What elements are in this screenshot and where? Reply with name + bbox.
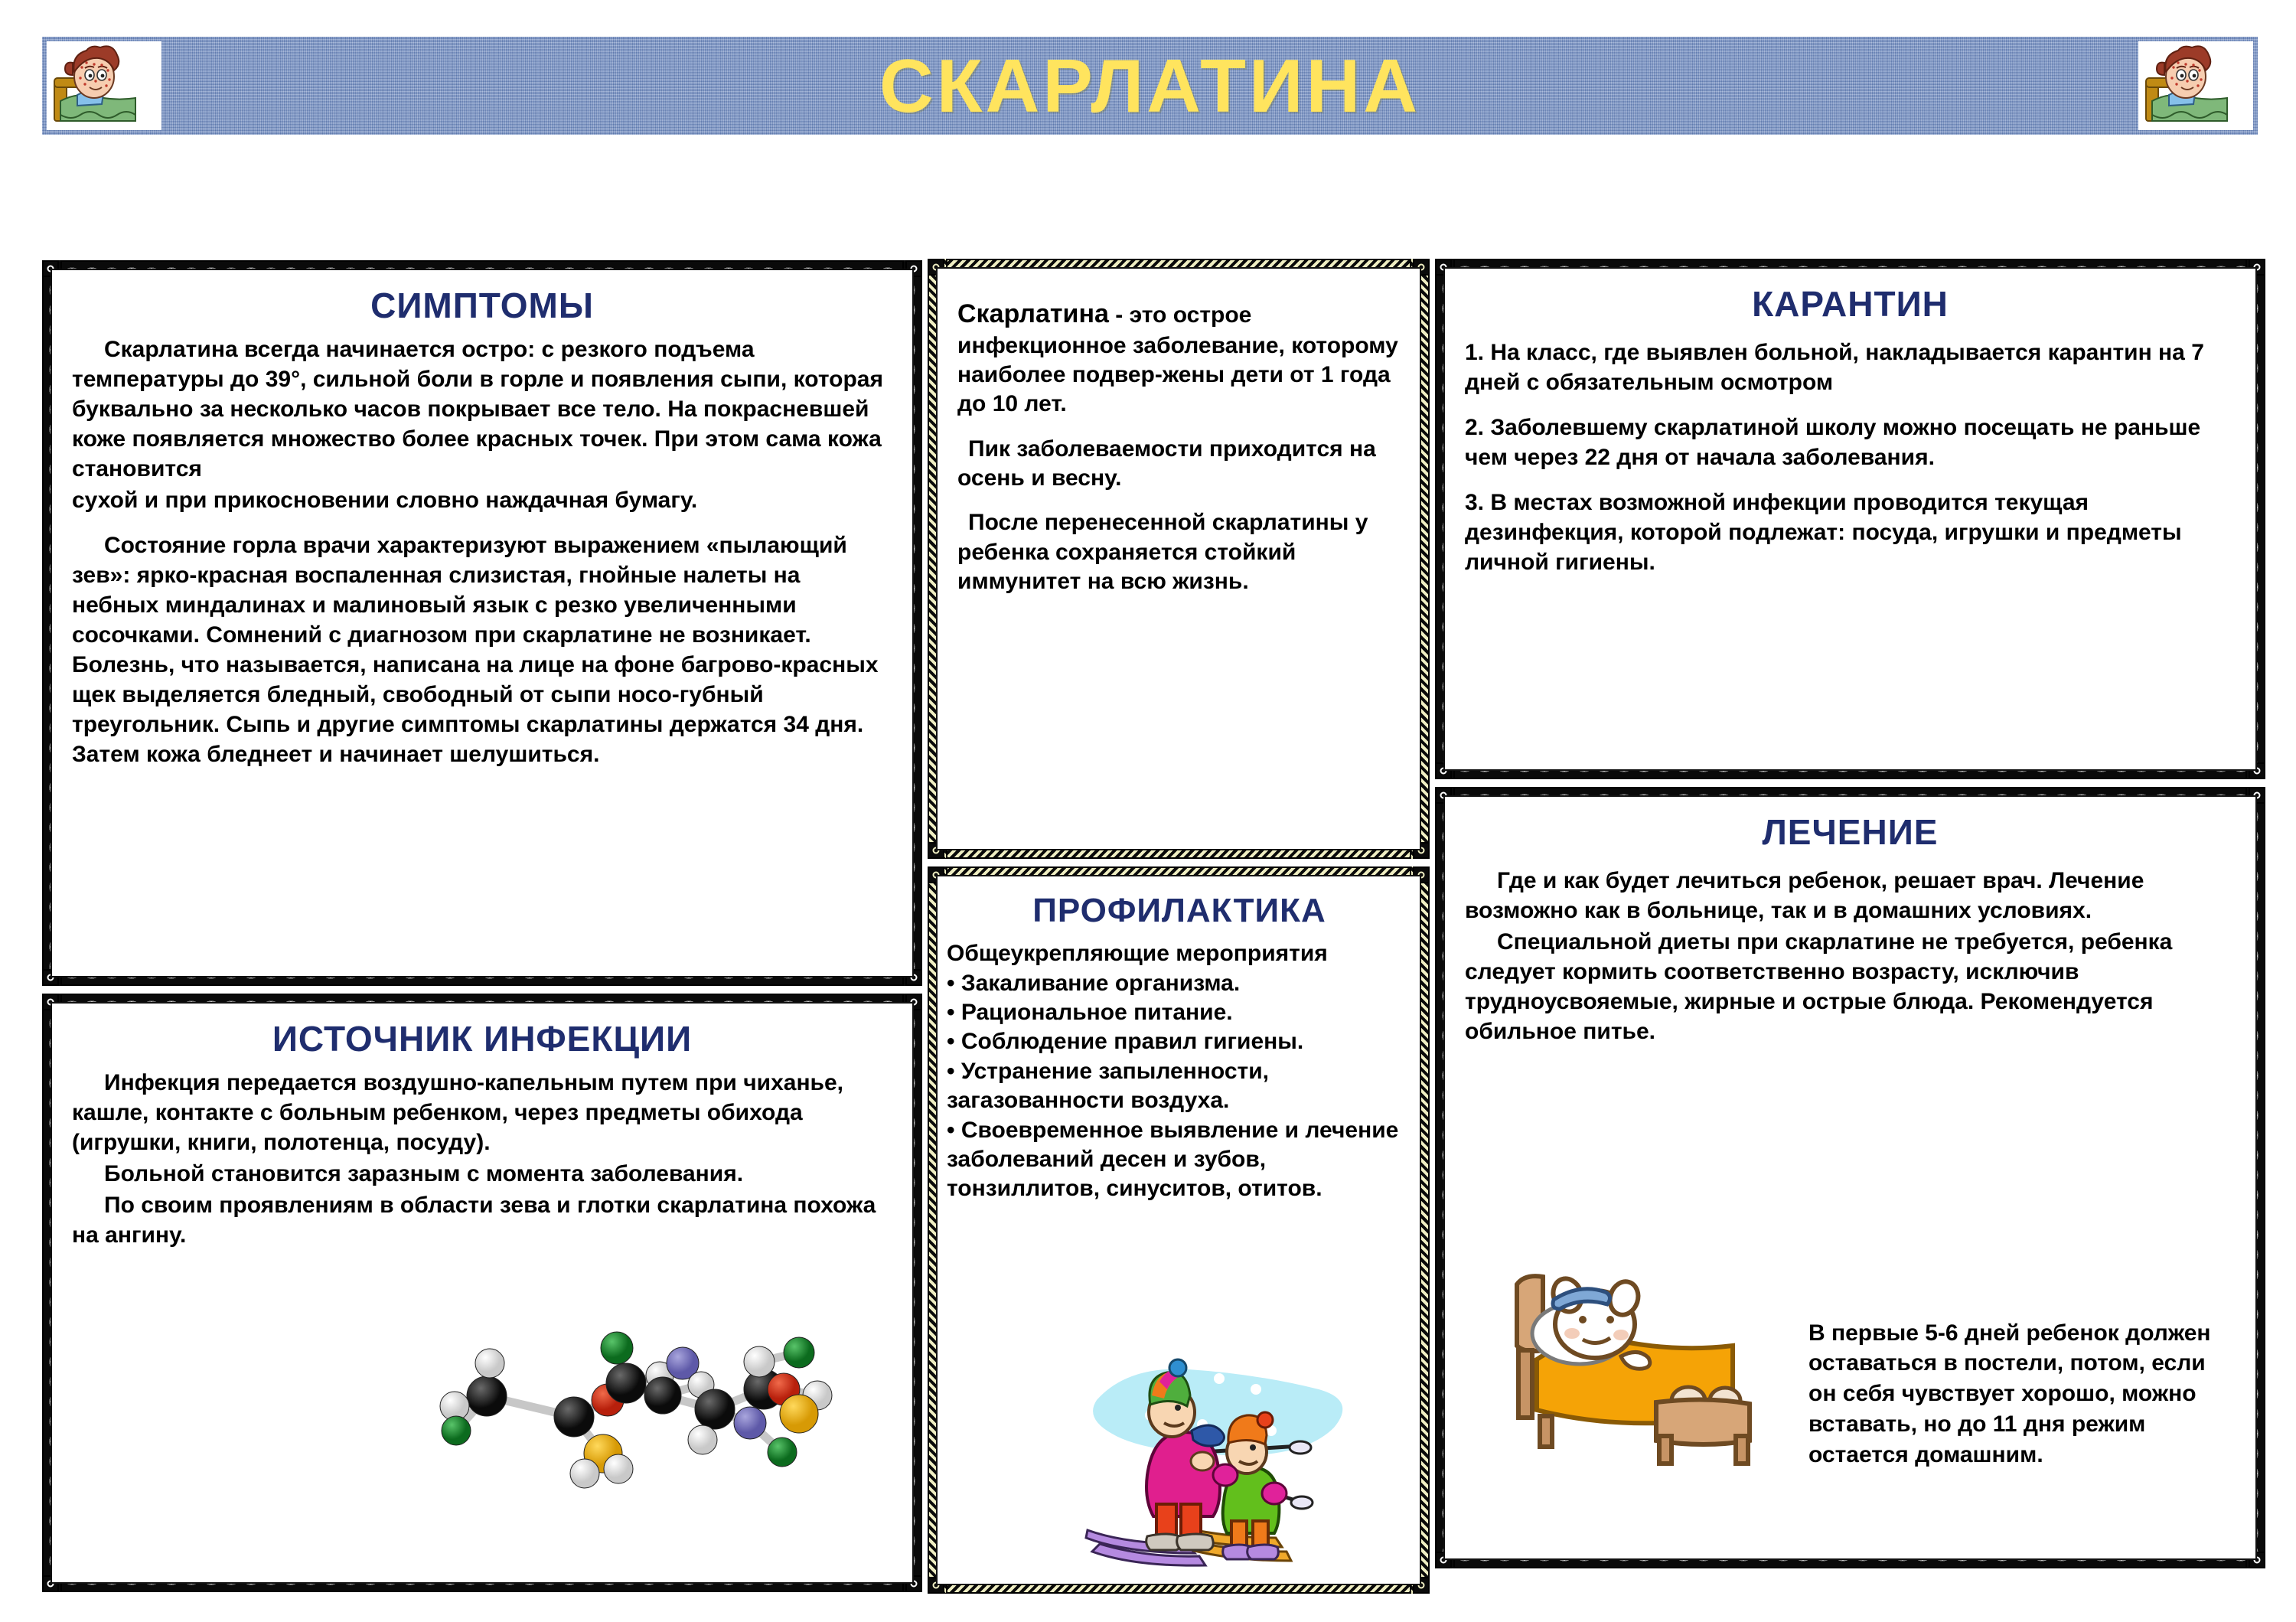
prevention-item: • Устранение запыленности, загазованност… [947,1057,1412,1116]
prevention-item: • Своевременное выявление и лечение забо… [947,1116,1412,1204]
symptoms-panel: СИМПТОМЫ Скарлатина всегда начинается ос… [42,260,922,986]
children-skiing-icon [1074,1339,1349,1576]
source-paragraph-3: По своим проявлениям в области зева и гл… [72,1190,892,1250]
prevention-item: • Закаливание организма. [947,969,1412,998]
intro-paragraph-2: После перенесенной скарлатины у ребенка … [957,508,1400,596]
prevention-title: ПРОФИЛАКТИКА [947,893,1412,928]
left-column: СИМПТОМЫ Скарлатина всегда начинается ос… [42,260,922,1600]
prevention-item: • Рациональное питание. [947,998,1412,1027]
symptoms-title: СИМПТОМЫ [72,287,892,324]
child-in-bed-icon [1506,1245,1766,1467]
prevention-intro: Общеукрепляющие мероприятия [947,939,1412,968]
poster-title: СКАРЛАТИНА [161,48,2138,123]
prevention-panel: ПРОФИЛАКТИКА Общеукрепляющие мероприятия… [928,866,1430,1594]
quarantine-item: 2. Заболевшему скарлатиной школу можно п… [1465,413,2236,472]
molecule-model-icon [373,1316,902,1568]
sick-child-in-bed-icon [2138,41,2253,130]
quarantine-item: 3. В местах возможной инфекции проводитс… [1465,488,2236,577]
source-title: ИСТОЧНИК ИНФЕКЦИИ [72,1020,892,1057]
source-paragraph-1: Инфекция передается воздушно-капельным п… [72,1068,892,1157]
treatment-paragraph-2: Специальной диеты при скарлатине не треб… [1465,927,2236,1046]
quarantine-item: 1. На класс, где выявлен больной, наклад… [1465,338,2236,397]
quarantine-title: КАРАНТИН [1465,286,2236,322]
intro-lead-term: Скарлатина [957,299,1109,328]
intro-lead: Скарлатина - это острое инфекционное заб… [957,298,1400,419]
treatment-panel: ЛЕЧЕНИЕ Где и как будет лечиться ребенок… [1435,787,2265,1568]
source-paragraph-2: Больной становится заразным с момента за… [72,1159,892,1189]
source-of-infection-panel: ИСТОЧНИК ИНФЕКЦИИ Инфекция передается во… [42,994,922,1592]
symptoms-paragraph-1: Скарлатина всегда начинается остро: с ре… [72,335,892,484]
prevention-item: • Соблюдение правил гигиены. [947,1027,1412,1056]
poster-header: СКАРЛАТИНА [42,37,2258,135]
treatment-note: В первые 5-6 дней ребенок должен остават… [1808,1318,2237,1470]
header-right-image [2138,41,2253,130]
treatment-title: ЛЕЧЕНИЕ [1465,814,2236,850]
symptoms-paragraph-2: сухой и при прикосновении словно наждачн… [72,485,892,515]
middle-column: Скарлатина - это острое инфекционное заб… [928,259,1430,1601]
quarantine-panel: КАРАНТИН 1. На класс, где выявлен больно… [1435,259,2265,779]
intro-paragraph-1: Пик заболеваемости приходится на осень и… [957,435,1400,494]
treatment-note-block: В первые 5-6 дней ребенок должен остават… [1808,1318,2237,1470]
intro-panel: Скарлатина - это острое инфекционное заб… [928,259,1430,859]
right-column: КАРАНТИН 1. На класс, где выявлен больно… [1435,259,2265,1576]
sick-child-in-bed-icon [47,41,161,130]
header-left-image [47,41,161,130]
treatment-paragraph-1: Где и как будет лечиться ребенок, решает… [1465,866,2236,925]
symptoms-paragraph-3: Состояние горла врачи характеризуют выра… [72,530,892,769]
